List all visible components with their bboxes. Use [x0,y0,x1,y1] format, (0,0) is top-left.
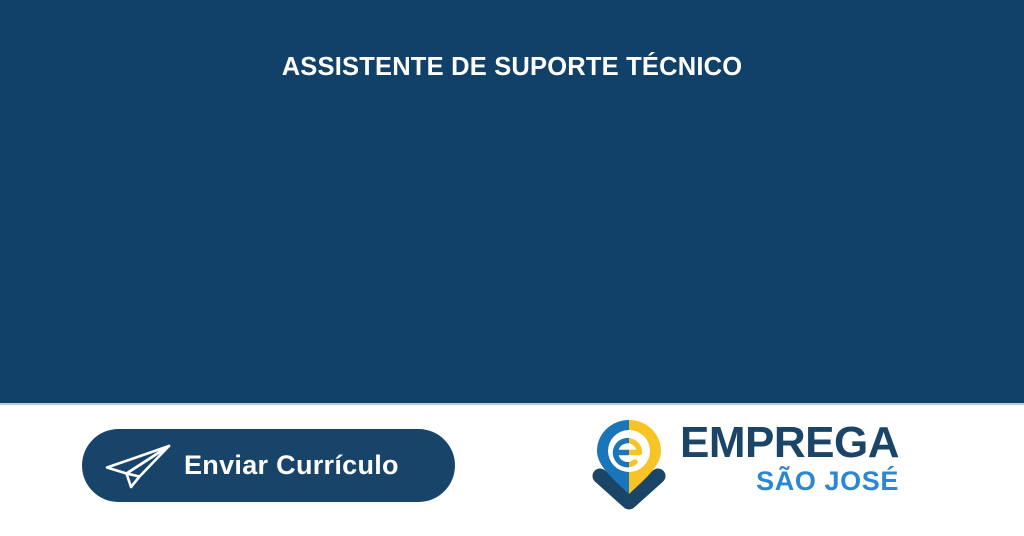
job-posting-banner: ASSISTENTE DE SUPORTE TÉCNICO Enviar Cur… [0,0,1024,536]
logo-secondary-text: SÃO JOSÉ [756,467,899,495]
page-title: ASSISTENTE DE SUPORTE TÉCNICO [0,52,1024,83]
map-pin-e-icon [588,418,670,510]
logo-primary-text: EMPREGA [680,422,899,464]
logo-wordmark: EMPREGA SÃO JOSÉ [680,418,899,495]
send-paper-plane-icon [100,442,176,490]
hero-banner: ASSISTENTE DE SUPORTE TÉCNICO [0,0,1024,403]
emprega-sao-jose-logo[interactable]: EMPREGA SÃO JOSÉ [588,418,918,514]
enviar-curriculo-label: Enviar Currículo [184,450,399,481]
enviar-curriculo-button[interactable]: Enviar Currículo [82,429,455,502]
